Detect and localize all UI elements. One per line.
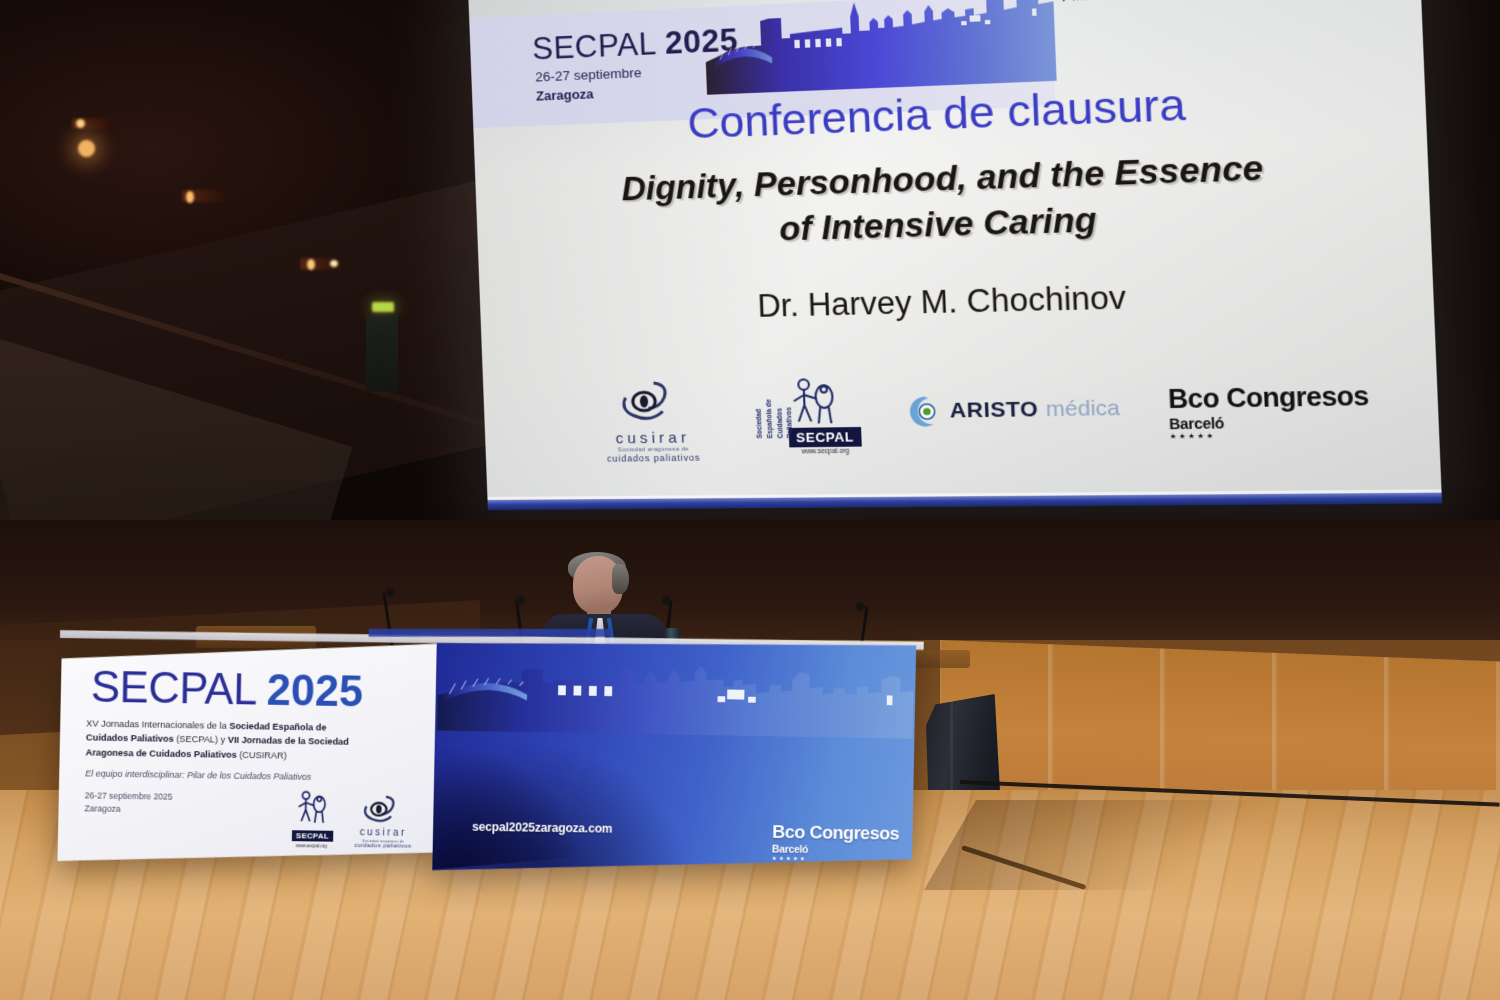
slide-event-city: Zaragoza bbox=[536, 86, 594, 103]
auditorium-scene: SECPAL 2025 26-27 septiembre Zaragoza bbox=[0, 0, 1500, 1000]
table-blue-edge-strip bbox=[369, 629, 612, 637]
banner-website-url: secpal2025zaragoza.com bbox=[472, 820, 613, 836]
banner-sponsor-bco: Bco Congresos Barceló ★★★★★ bbox=[772, 822, 900, 864]
sponsor-logo-cusirar: cusirar Sociedad aragonesa de cuidados p… bbox=[593, 378, 711, 464]
aristo-name-bold: ARISTO bbox=[949, 397, 1038, 423]
banner-logo-cusirar: cusirar Sociedad aragonesa de cuidados p… bbox=[347, 793, 420, 849]
bco-congresos-name: Bco Congresos bbox=[772, 822, 899, 845]
aristo-ring-icon bbox=[908, 395, 943, 429]
barcelo-stars: ★★★★★ bbox=[772, 855, 899, 863]
microphone-head bbox=[516, 596, 525, 605]
zaragoza-skyline-icon bbox=[437, 661, 914, 738]
banner-event-name-light: SECPAL bbox=[90, 663, 267, 715]
ceiling-spot-light bbox=[78, 140, 95, 157]
banner-tagline: El equipo interdisciplinar: Pilar de los… bbox=[85, 768, 372, 782]
slide-tagline-line2: Pilar de los Cuidados Paliativos bbox=[1062, 0, 1398, 7]
secpal-vertical-text: Sociedad Española de Cuidados Paliativos bbox=[754, 381, 797, 439]
microphone-head bbox=[386, 588, 395, 597]
ceiling-spot-light bbox=[307, 259, 315, 270]
slide-title: Dignity, Personhood, and the Essence of … bbox=[515, 141, 1385, 258]
banner-date-block: 26-27 septiembre 2025 Zaragoza bbox=[84, 789, 172, 816]
projection-screen: SECPAL 2025 26-27 septiembre Zaragoza bbox=[468, 0, 1442, 510]
aristo-name-light: médica bbox=[1045, 396, 1120, 422]
floor-shadow bbox=[924, 800, 1316, 890]
speaker-hair-side bbox=[612, 564, 629, 594]
slide-speaker-name: Dr. Harvey M. Chochinov bbox=[480, 272, 1434, 331]
slide-event-name-light: SECPAL bbox=[532, 25, 666, 66]
secpal-url: www.secpal.org bbox=[292, 843, 331, 848]
sponsor-logo-bco-congresos: Bco Congresos Barceló ★★★★★ bbox=[1168, 382, 1371, 441]
banner-white-panel: SECPAL 2025 XV Jornadas Internacionales … bbox=[57, 636, 440, 866]
stage-door bbox=[366, 316, 398, 392]
banner-logo-secpal: SECPAL www.secpal.org bbox=[286, 789, 332, 848]
slide-surface: SECPAL 2025 26-27 septiembre Zaragoza bbox=[468, 0, 1442, 510]
secpal-badge: SECPAL bbox=[292, 830, 333, 841]
ceiling-spot-light bbox=[186, 191, 194, 203]
barcelo-stars: ★★★★★ bbox=[1169, 430, 1370, 441]
secpal-figures-icon bbox=[292, 790, 332, 826]
microphone-head bbox=[856, 602, 865, 611]
banner-event-name-bold: 2025 bbox=[266, 666, 363, 716]
cusirar-sub2: cuidados paliativos bbox=[596, 452, 711, 463]
secpal-badge: SECPAL bbox=[788, 427, 861, 447]
ceiling-spot-light bbox=[330, 260, 338, 267]
zaragoza-skyline-icon bbox=[703, 0, 1057, 95]
cusirar-mark-icon bbox=[358, 794, 409, 828]
banner-event-name: SECPAL 2025 bbox=[90, 663, 363, 718]
sponsor-logo-secpal: Sociedad Española de Cuidados Paliativos… bbox=[754, 375, 864, 456]
ceiling-spot-light bbox=[76, 119, 85, 128]
cusirar-mark-icon bbox=[615, 378, 688, 428]
microphone-head bbox=[662, 596, 671, 605]
cusirar-name: cusirar bbox=[595, 429, 710, 448]
bco-congresos-name: Bco Congresos bbox=[1168, 382, 1370, 416]
secpal-url: www.secpal.org bbox=[788, 448, 864, 456]
exit-sign bbox=[372, 302, 394, 312]
slide-tagline: El equipo interdisciplinar: Pilar de los… bbox=[1060, 0, 1398, 7]
banner-description: XV Jornadas Internacionales de la Socied… bbox=[85, 716, 362, 764]
banner-date-line1: 26-27 septiembre 2025 bbox=[85, 789, 173, 803]
cusirar-sub2: cuidados paliativos bbox=[347, 843, 419, 850]
banner-date-line2: Zaragoza bbox=[84, 802, 172, 816]
banner-logo-row: SECPAL www.secpal.org cusirar Sociedad a… bbox=[286, 789, 420, 849]
head-table-banner: SECPAL 2025 XV Jornadas Internacionales … bbox=[57, 636, 926, 911]
slide-sponsor-row: cusirar Sociedad aragonesa de cuidados p… bbox=[593, 367, 1371, 471]
sponsor-logo-aristo-medica: ARISTO médica bbox=[908, 392, 1121, 428]
